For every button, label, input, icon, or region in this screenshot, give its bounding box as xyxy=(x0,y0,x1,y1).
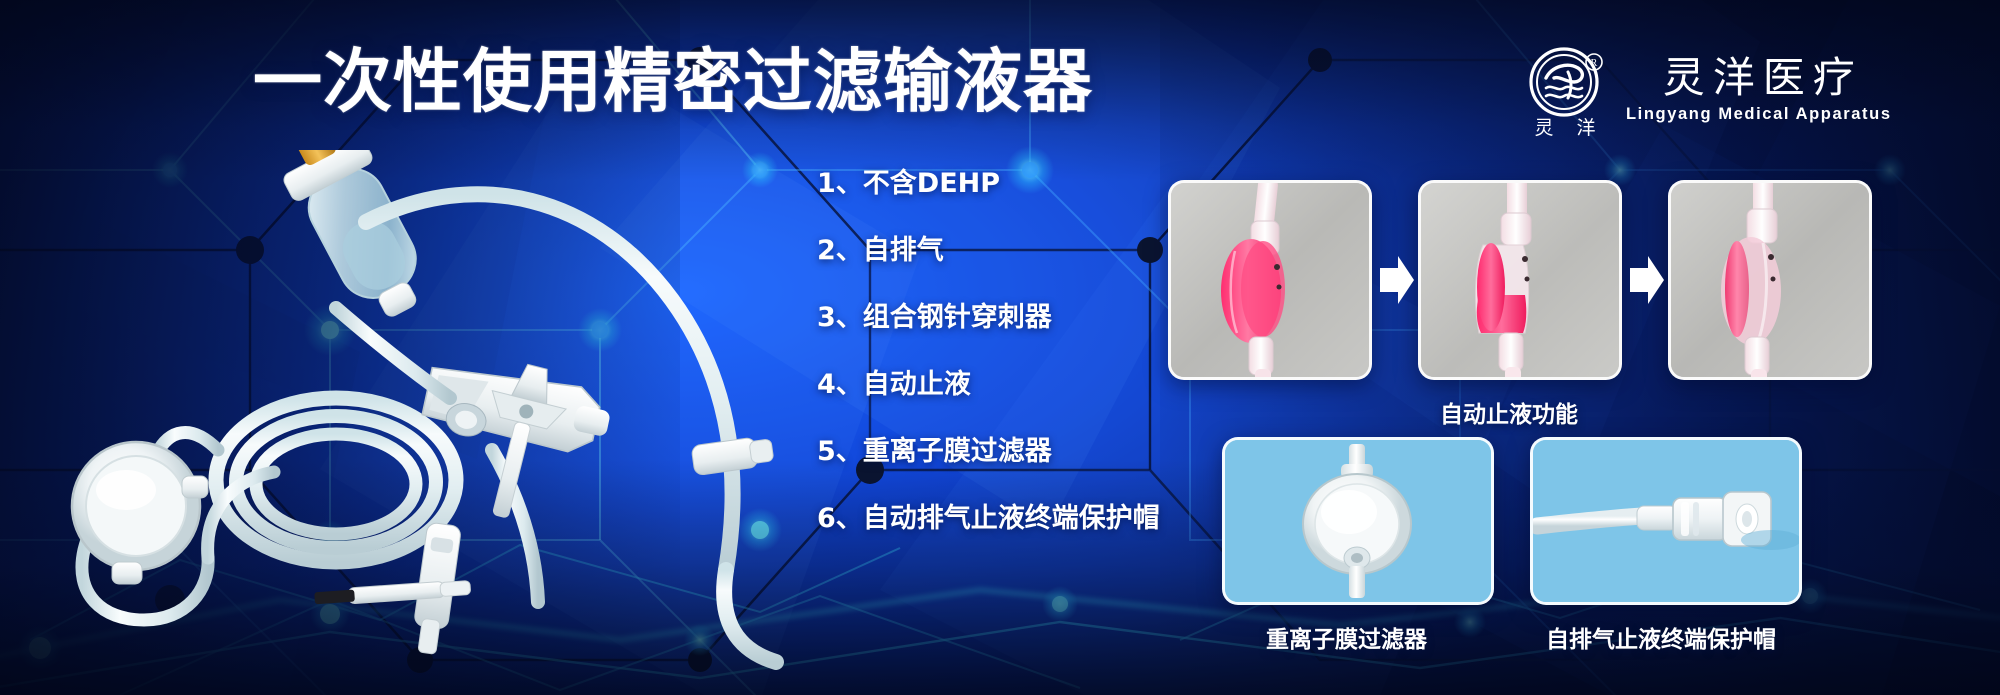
sequence-photo-1 xyxy=(1168,180,1372,380)
infusion-set-product-photo xyxy=(36,150,806,670)
feature-item-5: 5、重离子膜过滤器 xyxy=(817,438,1237,465)
bottom-panel-1-caption: 重离子膜过滤器 xyxy=(1266,620,1427,654)
emblem-char-right: 洋 xyxy=(1576,117,1595,138)
svg-text:R: R xyxy=(1591,58,1598,69)
sequence-photo-3 xyxy=(1668,180,1872,380)
bottom-panel-2-caption: 自排气止液终端保护帽 xyxy=(1546,620,1776,654)
sequence-photo-2 xyxy=(1418,180,1622,380)
page-title: 一次性使用精密过滤输液器 xyxy=(253,48,1093,117)
brand-logo: R 灵 洋 灵洋医疗 Lingyang Medical Apparatus xyxy=(1524,42,1892,138)
feature-item-6: 6、自动排气止液终端保护帽 xyxy=(817,505,1237,532)
sequence-caption: 自动止液功能 xyxy=(1440,395,1578,429)
heavy-ion-membrane-filter-photo xyxy=(1222,437,1494,605)
company-name-en: Lingyang Medical Apparatus xyxy=(1626,105,1892,124)
sequence-arrow-2-icon xyxy=(1626,252,1666,308)
product-banner: 一次性使用精密过滤输液器 R 灵 洋 灵洋医疗 Lingyang Medical… xyxy=(0,0,2000,695)
self-venting-terminal-protective-cap-photo xyxy=(1530,437,1802,605)
lingyang-emblem-icon: R 灵 洋 xyxy=(1524,42,1608,138)
company-name-cn: 灵洋医疗 xyxy=(1655,56,1863,100)
emblem-char-left: 灵 xyxy=(1534,117,1553,138)
sequence-arrow-1-icon xyxy=(1376,252,1416,308)
